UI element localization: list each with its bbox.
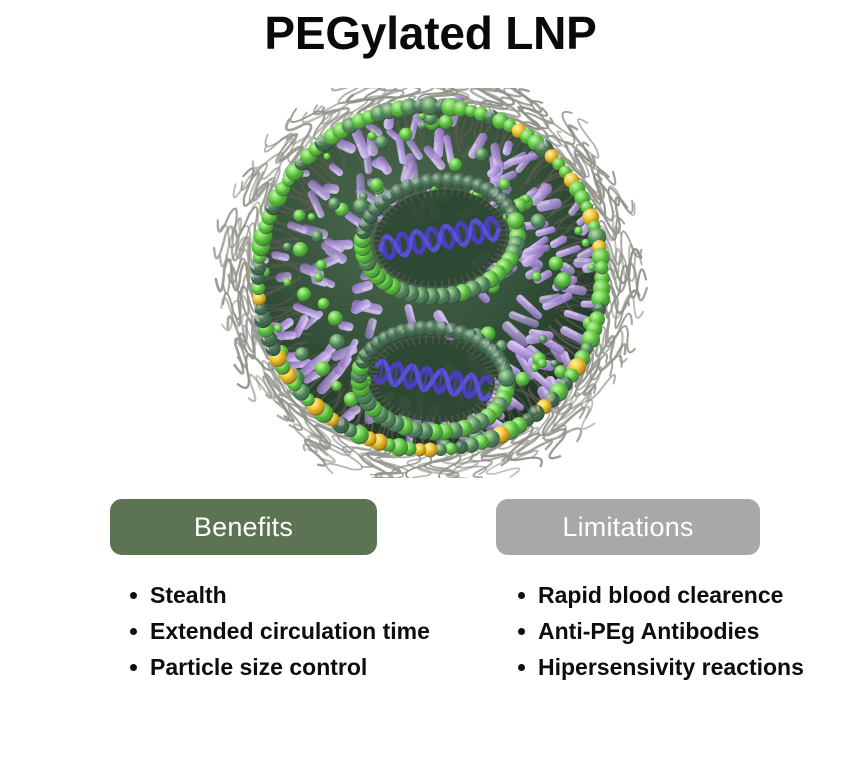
limitations-list: Rapid blood clearence Anti-PEg Antibodie…	[508, 579, 816, 684]
list-item: Hipersensivity reactions	[508, 651, 816, 685]
benefits-list: Stealth Extended circulation time Partic…	[120, 579, 463, 684]
page-title: PEGylated LNP	[0, 8, 861, 59]
benefits-column: Benefits Stealth Extended circulation ti…	[110, 499, 463, 686]
pegylated-lnp-figure	[205, 88, 655, 478]
list-item: Particle size control	[120, 651, 463, 685]
limitations-heading-pill: Limitations	[496, 499, 760, 555]
list-item: Anti-PEg Antibodies	[508, 615, 816, 649]
benefits-heading-pill: Benefits	[110, 499, 377, 555]
lnp-diagram-svg	[205, 88, 655, 478]
comparison-columns: Benefits Stealth Extended circulation ti…	[0, 499, 861, 773]
list-item: Extended circulation time	[120, 615, 463, 649]
limitations-column: Limitations Rapid blood clearence Anti-P…	[496, 499, 816, 686]
list-item: Rapid blood clearence	[508, 579, 816, 613]
list-item: Stealth	[120, 579, 463, 613]
